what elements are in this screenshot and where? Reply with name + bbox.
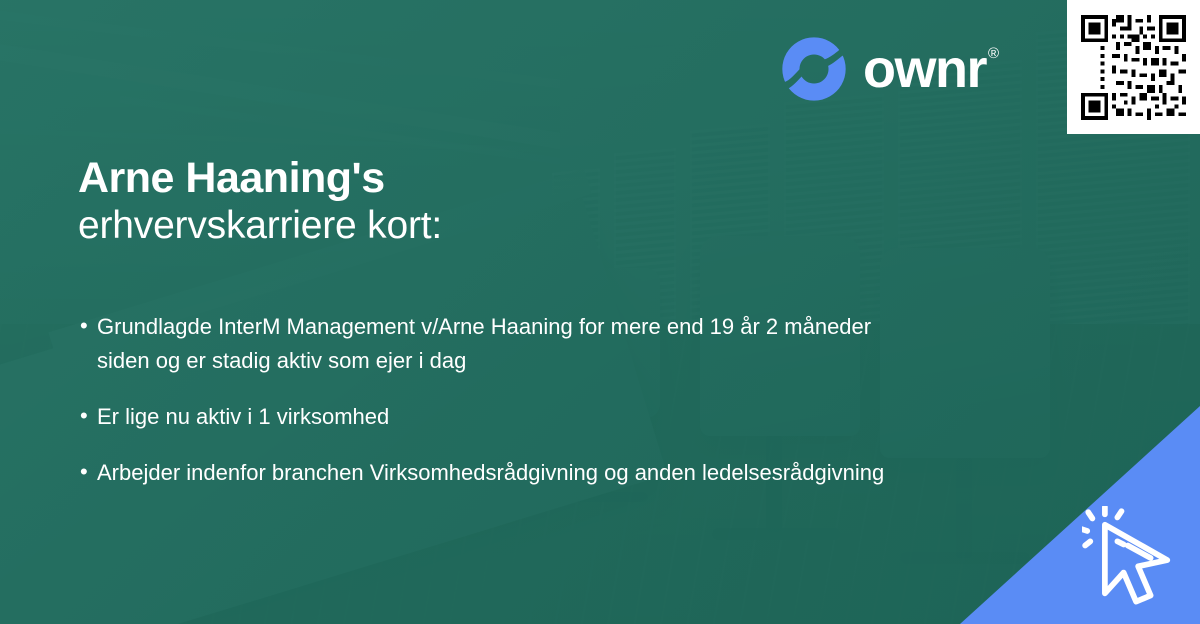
list-item: • Grundlagde InterM Management v/Arne Ha… <box>80 310 900 378</box>
career-facts-list: • Grundlagde InterM Management v/Arne Ha… <box>80 310 900 512</box>
page-title-line-1: Arne Haaning's <box>78 155 442 202</box>
list-item-text: Grundlagde InterM Management v/Arne Haan… <box>97 310 900 378</box>
list-item: • Arbejder indenfor branchen Virksomheds… <box>80 456 900 490</box>
business-career-card: ownr ® <box>0 0 1200 624</box>
ownr-wordmark-text: ownr <box>863 42 986 96</box>
bullet-marker-icon: • <box>80 400 97 432</box>
list-item: • Er lige nu aktiv i 1 virksomhed <box>80 400 900 434</box>
bullet-marker-icon: • <box>80 456 97 488</box>
ownr-logo[interactable]: ownr ® <box>781 36 999 102</box>
bullet-marker-icon: • <box>80 310 97 342</box>
registered-trademark-icon: ® <box>988 46 999 61</box>
ownr-circle-logo-icon <box>781 36 847 102</box>
list-item-text: Arbejder indenfor branchen Virksomhedsrå… <box>97 456 884 490</box>
click-cursor-icon <box>1082 506 1186 610</box>
ownr-wordmark: ownr ® <box>863 42 999 96</box>
list-item-text: Er lige nu aktiv i 1 virksomhed <box>97 400 389 434</box>
page-title-line-2: erhvervskarriere kort: <box>78 202 442 251</box>
qr-code[interactable] <box>1067 0 1200 134</box>
qr-code-icon <box>1077 11 1190 124</box>
page-title: Arne Haaning's erhvervskarriere kort: <box>78 155 442 251</box>
